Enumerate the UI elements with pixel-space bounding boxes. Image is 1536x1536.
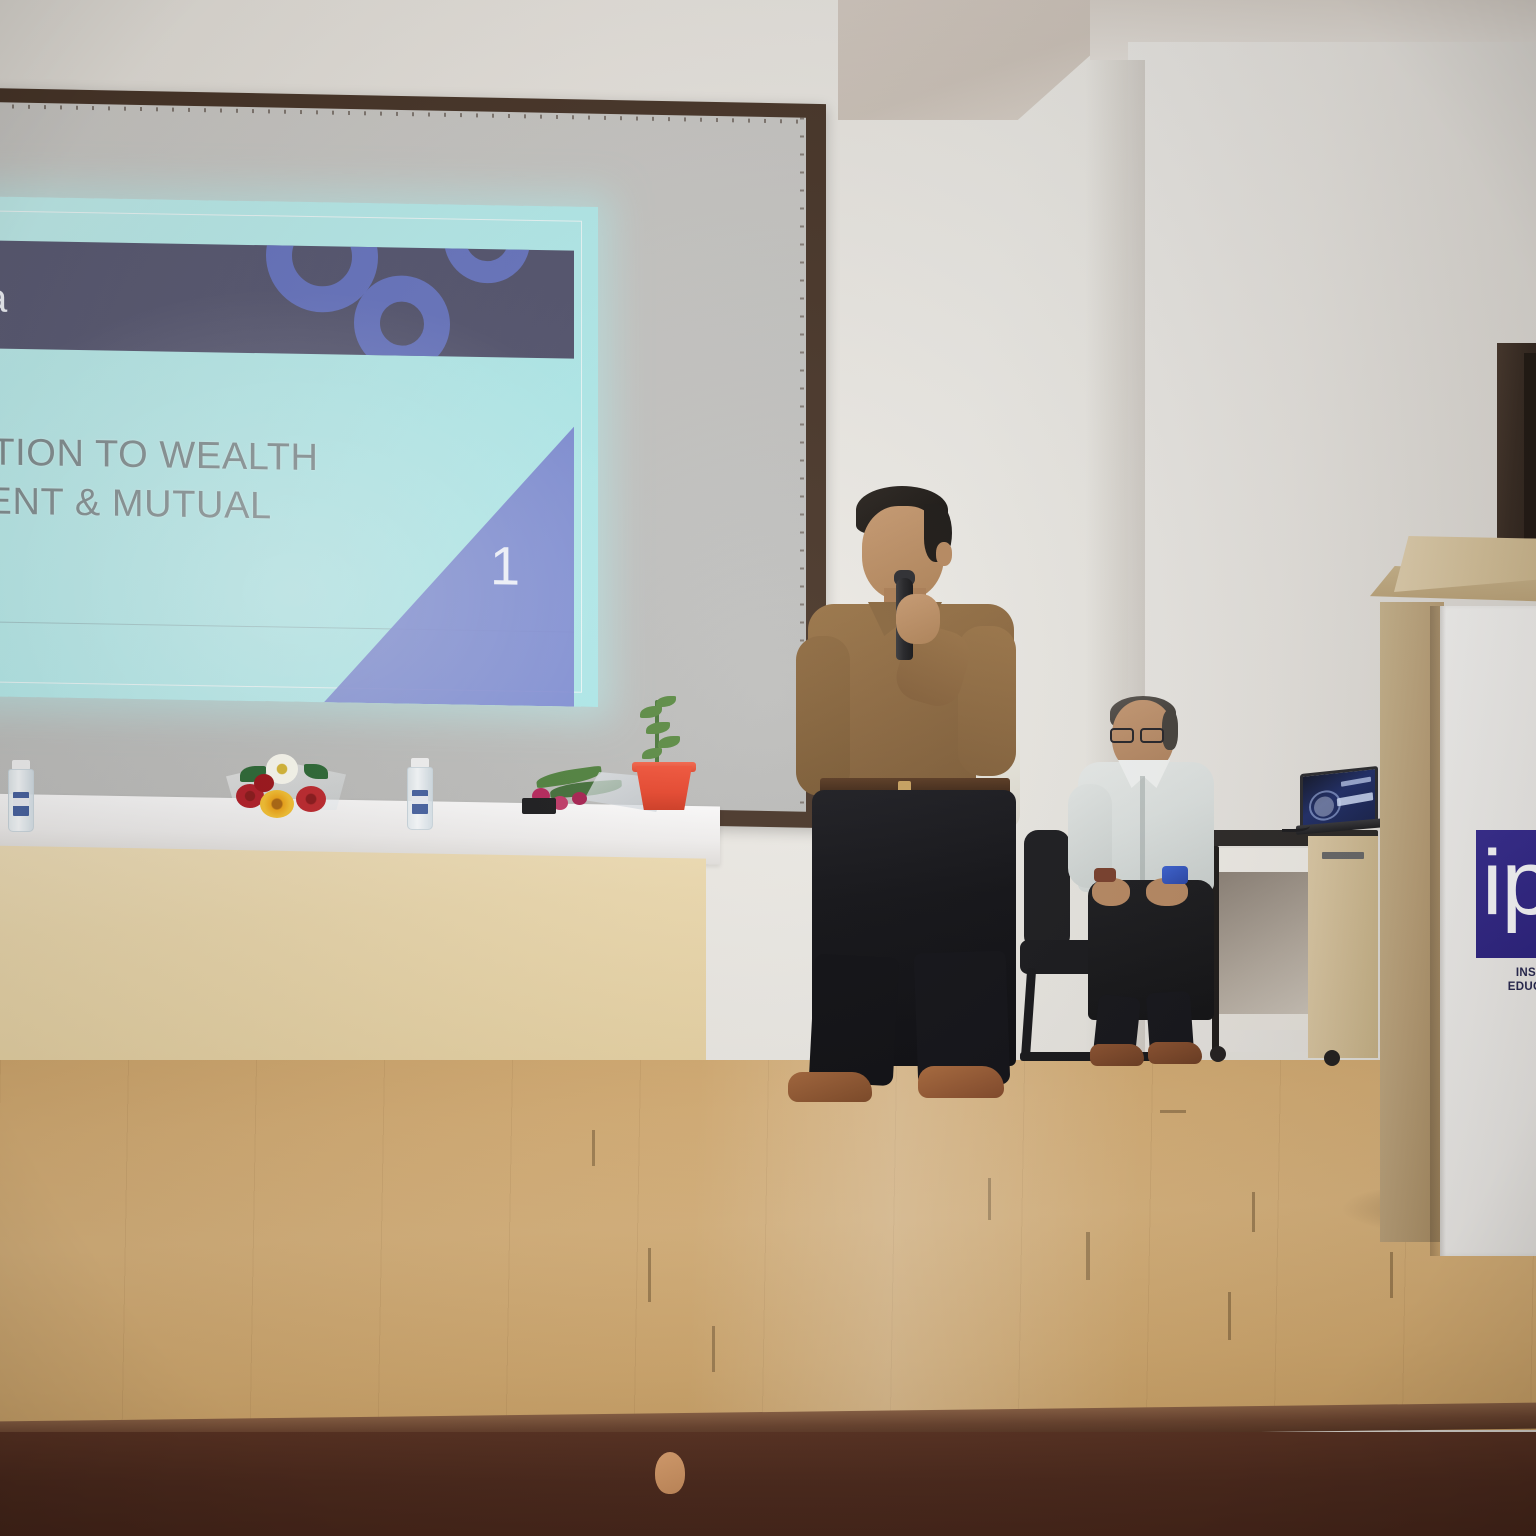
side-table-caster: [1324, 1050, 1340, 1066]
floor-seam: [712, 1326, 715, 1372]
hand-left: [1092, 878, 1130, 906]
laptop-slide-text-line: [1341, 777, 1371, 787]
floor-seam: [592, 1130, 595, 1166]
laptop-slide-text-line: [1337, 792, 1373, 806]
flower-red: [296, 786, 326, 812]
flower-pot: [636, 766, 692, 810]
stage-front-face: [0, 1432, 1536, 1536]
shoe-left: [1090, 1044, 1144, 1066]
slide-page-number: 1: [490, 535, 520, 598]
floor-seam: [1086, 1232, 1090, 1280]
podium-hindi-line-1: व्याव: [1456, 768, 1536, 787]
floor-seam: [1228, 1292, 1231, 1340]
flower-red-small: [254, 774, 274, 792]
podium-institute-line-2: EDUCATION: [1456, 980, 1536, 994]
podium-tagline: Lear: [1456, 1034, 1536, 1051]
floor-seam: [1390, 1252, 1393, 1298]
slide-title: INTRODUCTION TO WEALTH MANAGEMENT & MUTU…: [0, 425, 346, 581]
ear: [936, 542, 952, 566]
flower-bouquet: [226, 748, 346, 810]
speaking-podium: व्याव एवं अ ip INSTITUTE EDUCATION (GROU…: [1370, 536, 1536, 1236]
side-table-panel: [1308, 836, 1378, 1058]
slide-title-line-3: FUNDS: [0, 522, 346, 580]
podium-institute-line-1: INSTITUTE: [1456, 966, 1536, 980]
podium-logo-text: ip: [1482, 846, 1536, 921]
side-table-sticker: [1322, 852, 1364, 859]
eyeglass-lens-left: [1110, 728, 1134, 743]
podium-hindi-line-2: एवं अ: [1456, 787, 1536, 806]
stage-floor: [0, 1060, 1536, 1430]
shin-left: [809, 954, 900, 1086]
hand-right: [896, 594, 940, 644]
shirt-placket: [1140, 776, 1145, 886]
slide-title-line-1: INTRODUCTION TO WEALTH: [0, 425, 346, 483]
water-bottle: [8, 760, 34, 832]
projected-slide: nuvama INTRODUCTION TO WEALTH MANAGEMENT…: [0, 193, 598, 707]
slide-header-band: nuvama: [0, 237, 574, 358]
podium-inner-shadow: [1430, 606, 1446, 1256]
shoe-left: [788, 1072, 872, 1102]
bottle-label-stripe: [13, 798, 29, 806]
podium-hindi-text: व्याव एवं अ: [1456, 768, 1536, 806]
seated-person: [1070, 700, 1240, 1060]
podium-group-text: (GROU: [1456, 1012, 1536, 1024]
mobile-phone: [1162, 866, 1188, 884]
wristwatch: [1094, 868, 1116, 882]
shoe-right: [918, 1066, 1004, 1098]
eyeglasses-icon: [1110, 728, 1166, 743]
shoe-right: [1148, 1042, 1202, 1064]
standing-speaker: [790, 486, 1040, 1114]
podium-institute-text: INSTITUTE EDUCATION: [1456, 966, 1536, 995]
flower-pink: [572, 792, 587, 805]
flower-yellow: [260, 790, 294, 818]
stage-paint-chip: [655, 1452, 685, 1494]
bouquet-base: [522, 798, 556, 814]
nuvama-wordmark: nuvama: [0, 274, 8, 322]
nuvama-ring-graphic-2: [354, 275, 450, 359]
floor-seam: [1160, 1110, 1186, 1113]
bottle-label-stripe: [412, 796, 428, 804]
water-bottle: [407, 758, 433, 830]
arm-left: [796, 636, 850, 796]
floor-seam: [648, 1248, 651, 1302]
floor-seam: [1252, 1192, 1255, 1232]
podium-subtagline: S: [1456, 1058, 1536, 1068]
seminar-hall-photo: nuvama INTRODUCTION TO WEALTH MANAGEMENT…: [0, 0, 1536, 1536]
floor-seam: [988, 1178, 991, 1220]
eyeglass-lens-right: [1140, 728, 1164, 743]
